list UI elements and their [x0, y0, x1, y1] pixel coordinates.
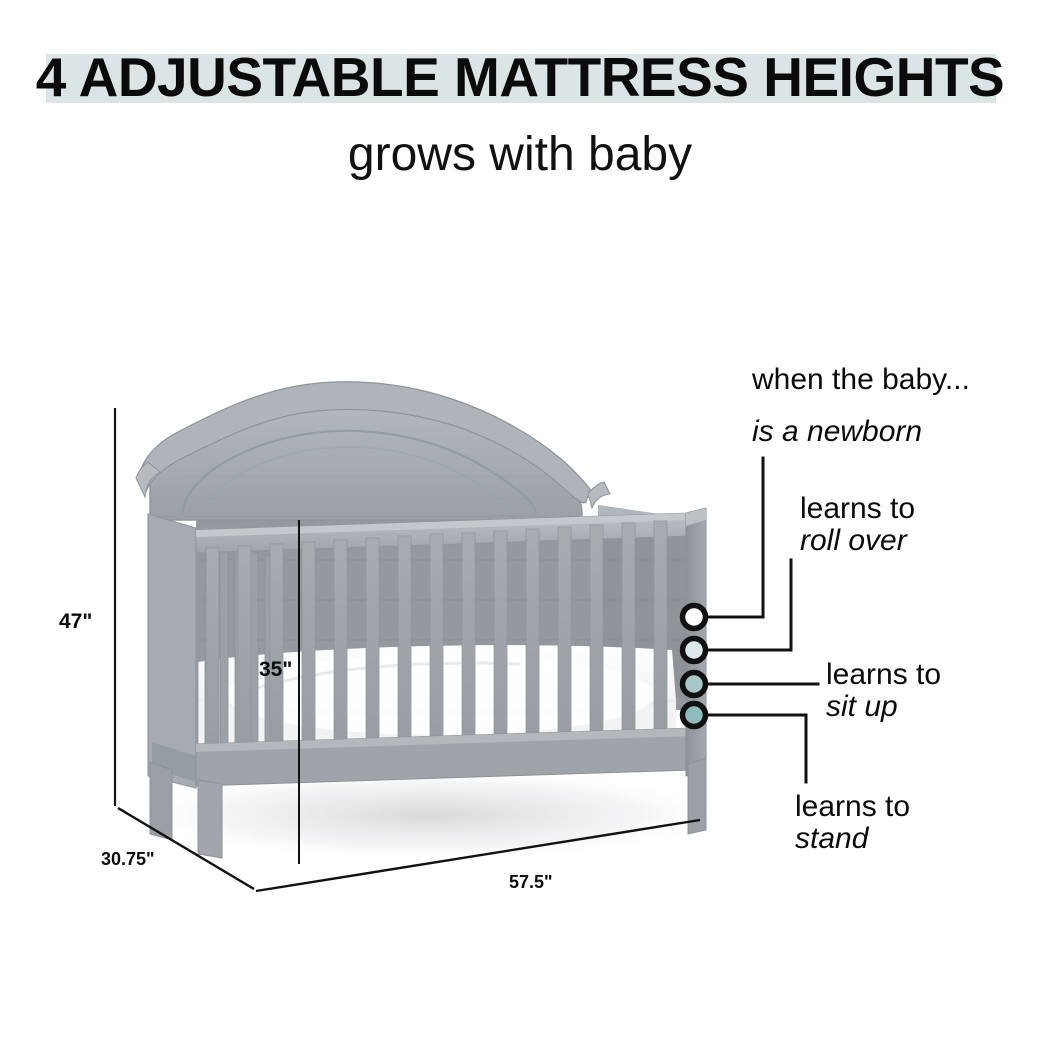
- crib-headboard: [136, 382, 610, 520]
- callout-situp: learns to sit up: [826, 659, 941, 724]
- mattress-level-marker-3[interactable]: [683, 673, 706, 696]
- callout-rollover-lead: learns to: [800, 493, 915, 525]
- callout-stand: learns to stand: [795, 791, 910, 856]
- dimension-label-mattress: 35": [259, 658, 292, 682]
- callout-heading: when the baby...: [752, 364, 970, 396]
- dimension-label-height: 47": [59, 610, 92, 634]
- mattress-level-marker-1[interactable]: [683, 606, 706, 629]
- callout-stand-lead: learns to: [795, 791, 910, 823]
- infographic-page: 4 ADJUSTABLE MATTRESS HEIGHTS grows with…: [0, 0, 1040, 1040]
- callout-situp-emph: sit up: [826, 691, 941, 723]
- mattress-level-marker-2[interactable]: [683, 639, 706, 662]
- leader-line-stand: [706, 715, 806, 782]
- crib-slats: [206, 521, 667, 754]
- callout-rollover-emph: roll over: [800, 525, 915, 557]
- leader-line-newborn: [706, 458, 763, 617]
- dimension-label-depth: 30.75": [101, 849, 155, 870]
- dimension-label-width: 57.5": [509, 872, 553, 893]
- callout-stand-emph: stand: [795, 823, 910, 855]
- callout-newborn: is a newborn: [752, 416, 922, 448]
- callout-newborn-emph: is a newborn: [752, 416, 922, 448]
- callout-rollover: learns to roll over: [800, 493, 915, 558]
- mattress-level-marker-4[interactable]: [683, 704, 706, 727]
- leader-line-rollover: [706, 560, 791, 650]
- crib-legs: [198, 780, 222, 858]
- callout-situp-lead: learns to: [826, 659, 941, 691]
